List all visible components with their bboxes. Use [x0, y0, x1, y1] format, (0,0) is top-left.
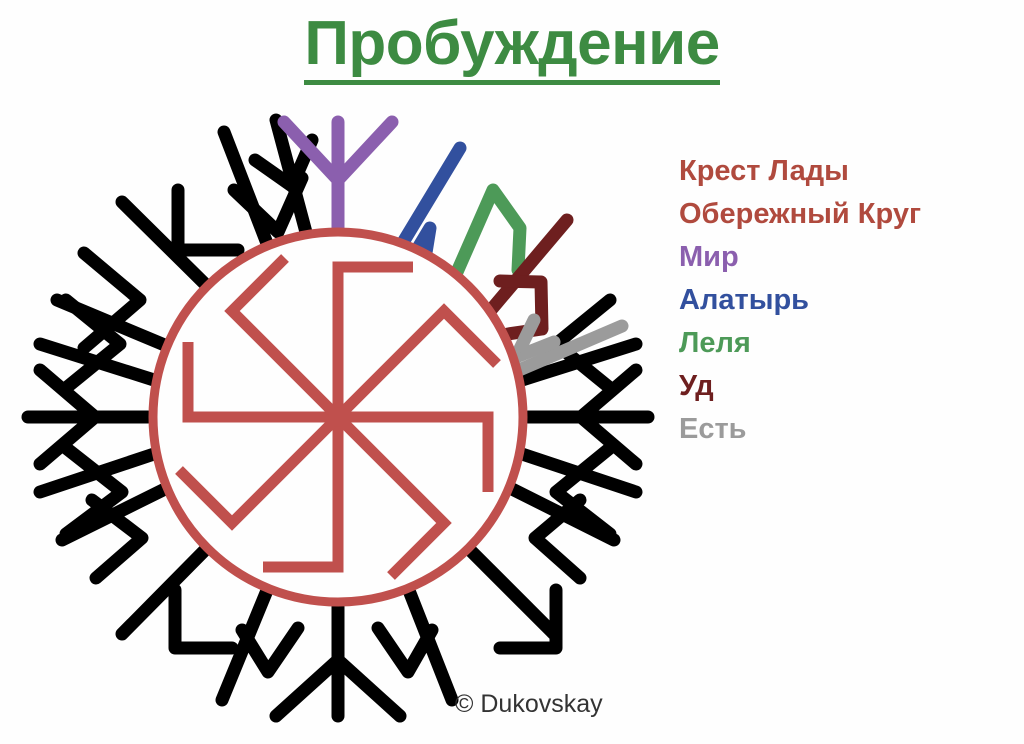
black-ray-e: [528, 370, 648, 464]
legend-label: Алатырь: [679, 284, 809, 316]
legend: Крест Лады Обережный Круг Мир Алатырь Ле…: [679, 150, 1019, 451]
legend-item-mir: Мир: [679, 236, 1019, 279]
legend-label: Есть: [679, 413, 747, 445]
legend-label: Крест Лады: [679, 155, 849, 187]
black-ray-se: [468, 548, 556, 648]
legend-item-ud: Уд: [679, 365, 1019, 408]
image-canvas: Пробуждение: [0, 0, 1024, 744]
black-ray-sse: [378, 588, 452, 700]
legend-label: Леля: [679, 327, 751, 359]
legend-label: Уд: [679, 370, 714, 402]
black-ray-s: [276, 600, 400, 716]
legend-item-krest-lady: Крест Лады: [679, 150, 1019, 193]
legend-item-est: Есть: [679, 408, 1019, 451]
black-ray-w: [28, 370, 148, 464]
legend-label: Обережный Круг: [679, 198, 921, 230]
legend-item-lelya: Леля: [679, 322, 1019, 365]
black-ray-sw: [122, 548, 232, 648]
legend-item-oberezhny-krug: Обережный Круг: [679, 193, 1019, 236]
copyright-credit: © Dukovskay: [455, 690, 603, 719]
legend-label: Мир: [679, 241, 739, 273]
legend-item-alatyr: Алатырь: [679, 279, 1019, 322]
